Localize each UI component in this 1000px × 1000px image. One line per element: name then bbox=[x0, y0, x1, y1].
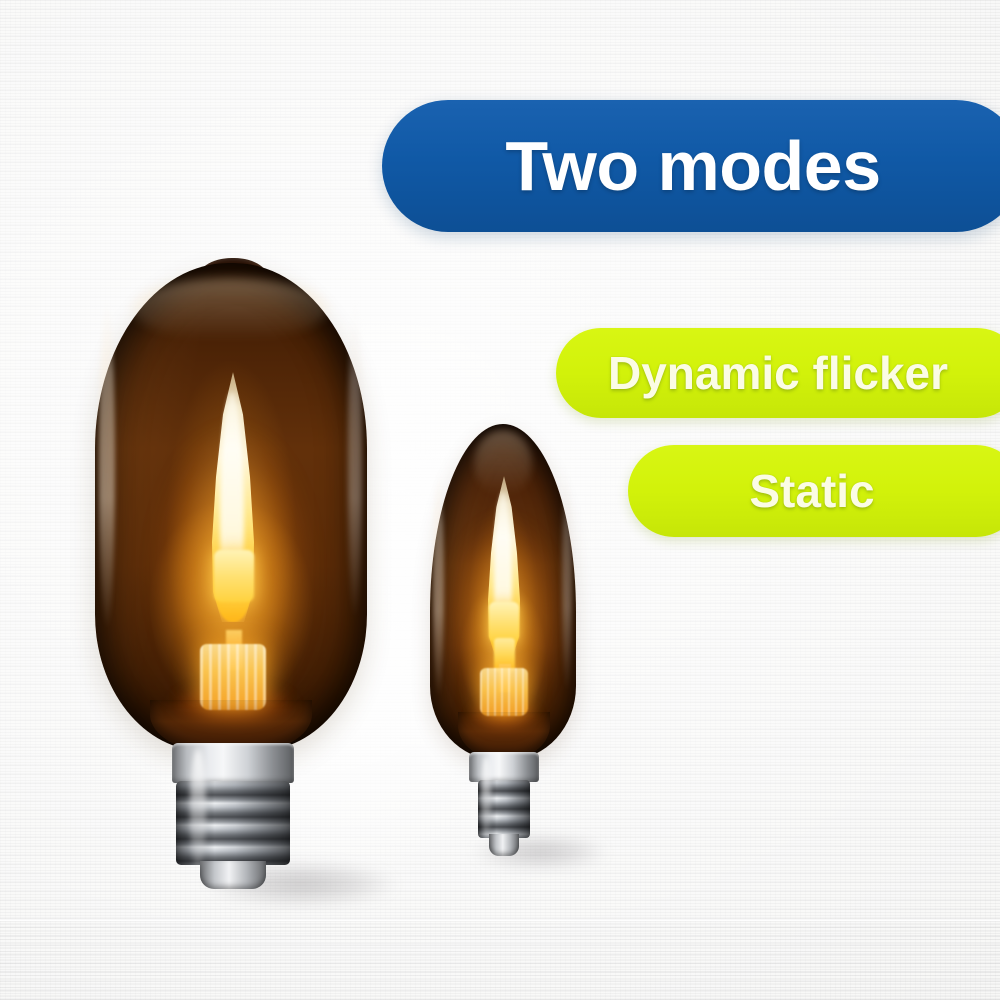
headline-text: Two modes bbox=[505, 131, 880, 201]
mode-pill-static: Static bbox=[628, 445, 1000, 537]
large-bulb-right-rim-highlight bbox=[348, 300, 362, 620]
large-filament-block-upper bbox=[214, 550, 254, 602]
small-filament-block-upper bbox=[489, 602, 519, 642]
large-bulb-e27-base bbox=[172, 743, 294, 889]
small-bulb-e14-base bbox=[469, 752, 539, 856]
mode-label-static: Static bbox=[749, 468, 874, 514]
large-bulb-flame-filament bbox=[196, 372, 270, 672]
large-bulb-top-sheen bbox=[132, 278, 328, 340]
small-bulb-filament-mount bbox=[480, 668, 528, 716]
e27-contact-tip bbox=[200, 861, 266, 889]
small-bulb-flame-filament bbox=[476, 476, 532, 694]
floor-surface bbox=[0, 920, 1000, 1000]
mode-label-dynamic-flicker: Dynamic flicker bbox=[608, 350, 948, 396]
e14-contact-tip bbox=[489, 834, 519, 856]
headline-pill-two-modes: Two modes bbox=[382, 100, 1000, 232]
large-bulb-left-rim-highlight bbox=[99, 300, 115, 630]
mode-pill-dynamic-flicker: Dynamic flicker bbox=[556, 328, 1000, 418]
e14-specular-highlight bbox=[481, 757, 491, 841]
e27-specular-highlight bbox=[190, 749, 206, 869]
e14-collar bbox=[469, 752, 539, 782]
product-banner: Two modes Dynamic flicker Static bbox=[0, 0, 1000, 1000]
